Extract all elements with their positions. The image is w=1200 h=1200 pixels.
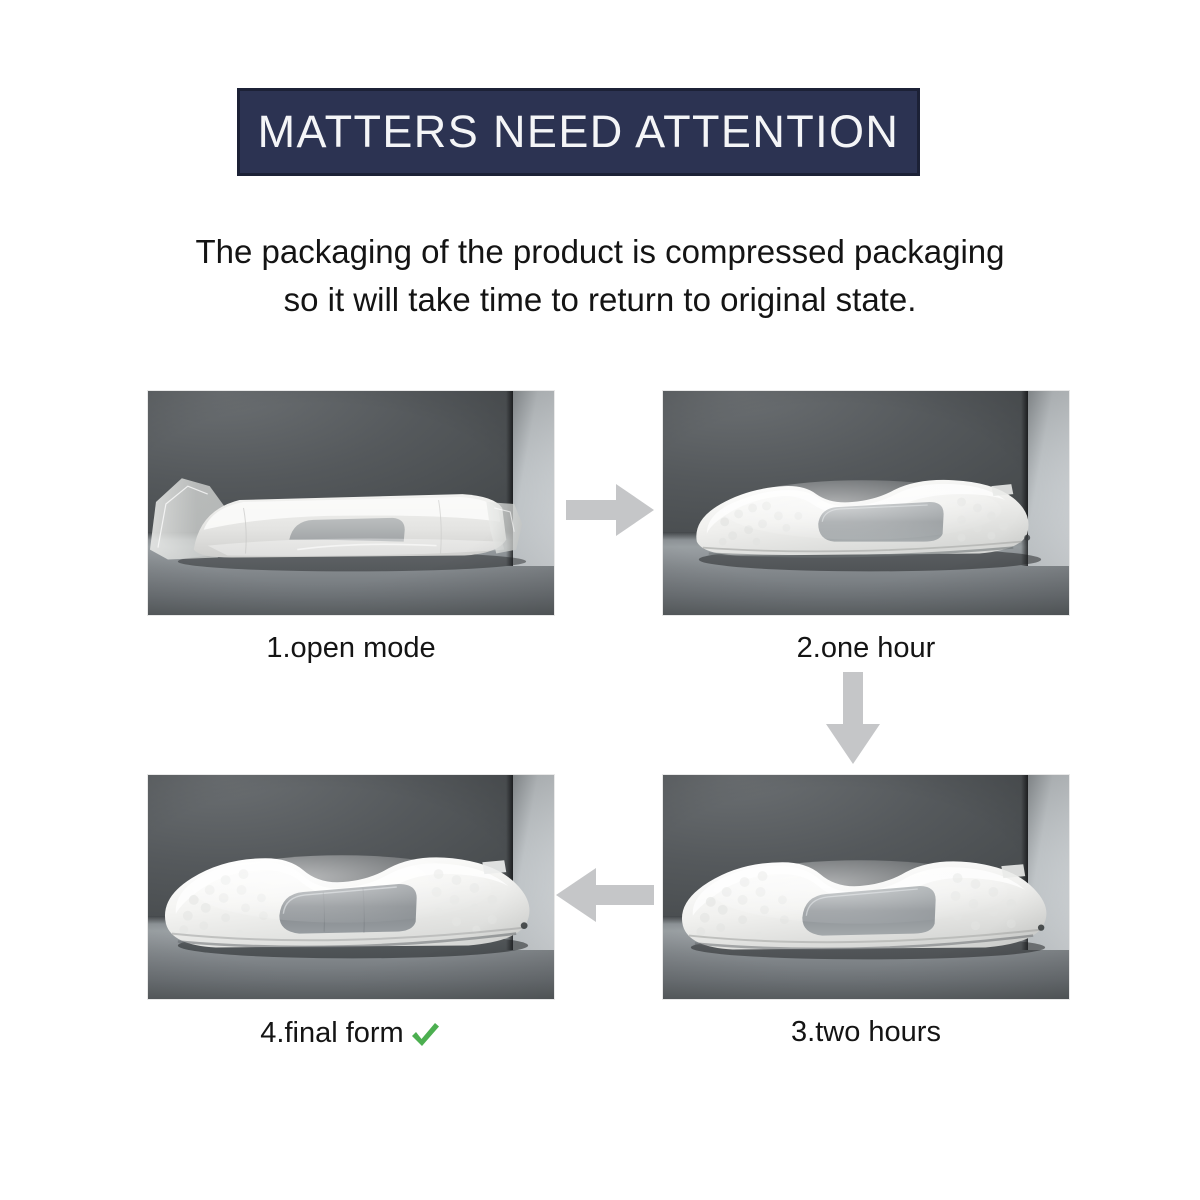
step-2-caption: 2.one hour xyxy=(662,632,1070,665)
step-3-caption-label: 3.two hours xyxy=(791,1016,941,1049)
final-pillow-graphic xyxy=(148,775,554,999)
compressed-pillow-graphic xyxy=(148,391,554,615)
step-4-caption-label: 4.final form xyxy=(260,1017,403,1050)
step-item-2: 2.one hour xyxy=(662,390,1070,665)
step-2-photo xyxy=(662,390,1070,616)
step-4-photo xyxy=(147,774,555,1000)
expanding-pillow-graphic-2h xyxy=(663,775,1069,999)
step-item-4: 4.final form xyxy=(147,774,555,1050)
step-1-photo xyxy=(147,390,555,616)
step-grid: 1.open mode xyxy=(0,0,1200,1200)
step-3-caption: 3.two hours xyxy=(662,1016,1070,1049)
step-item-3: 3.two hours xyxy=(662,774,1070,1049)
step-1-caption: 1.open mode xyxy=(147,632,555,665)
step-3-photo xyxy=(662,774,1070,1000)
arrow-down-icon xyxy=(824,672,882,764)
arrow-left-icon xyxy=(556,866,654,924)
step-item-1: 1.open mode xyxy=(147,390,555,665)
step-4-caption: 4.final form xyxy=(147,1016,555,1050)
arrow-right-icon xyxy=(566,482,654,538)
check-icon xyxy=(408,1018,442,1052)
step-1-caption-label: 1.open mode xyxy=(266,632,435,665)
step-2-caption-label: 2.one hour xyxy=(797,632,936,665)
expanding-pillow-graphic-1h xyxy=(663,391,1069,615)
